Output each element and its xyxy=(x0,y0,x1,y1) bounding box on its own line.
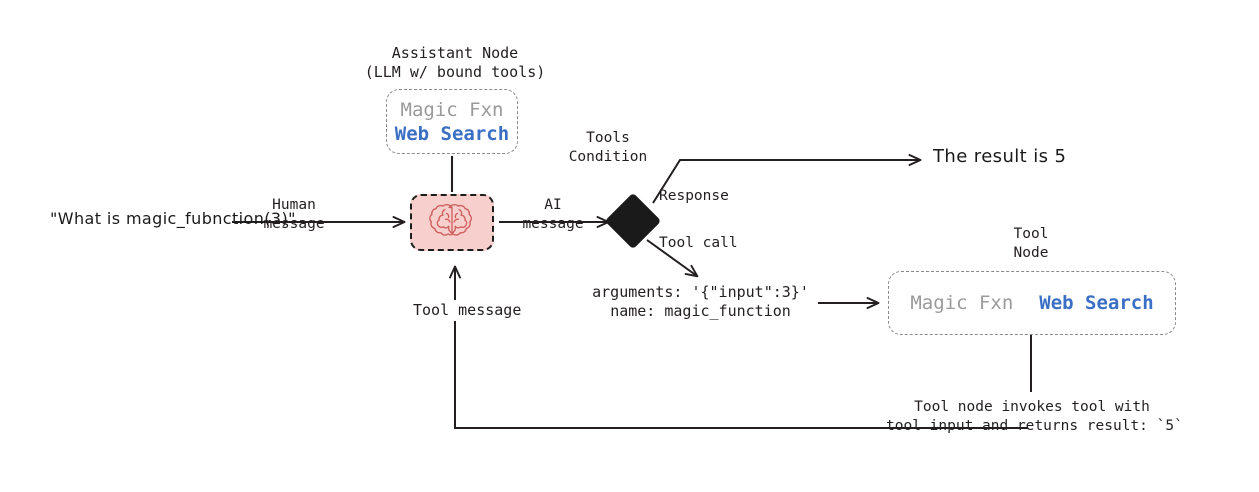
tools-condition-title-line2: Condition xyxy=(548,148,668,167)
tool-node-caption-line2: tool input and returns result: `5` xyxy=(886,417,1178,436)
tool-node-caption: Tool node invokes tool with tool input a… xyxy=(886,398,1178,436)
assistant-tool-web-search-label[interactable]: Web Search xyxy=(395,123,509,145)
tool-node-title: Tool Node xyxy=(971,225,1091,263)
human-message-line2: message xyxy=(246,215,342,234)
assistant-node-title-line1: Assistant Node xyxy=(330,44,580,63)
ai-message-line1: AI xyxy=(505,196,601,215)
ai-message-line2: message xyxy=(505,215,601,234)
tool-node-web-search-label[interactable]: Web Search xyxy=(1039,292,1153,314)
assistant-node-title-line2: (LLM w/ bound tools) xyxy=(330,63,580,82)
edge-label-human-message: Human message xyxy=(246,196,342,234)
edge-label-response: Response xyxy=(659,187,729,206)
assistant-tool-magic-fxn-label[interactable]: Magic Fxn xyxy=(401,99,504,121)
tool-node-caption-line1: Tool node invokes tool with xyxy=(886,398,1178,417)
tool-node-title-line1: Tool xyxy=(971,225,1091,244)
edge-label-tool-message: Tool message xyxy=(411,300,523,321)
tools-condition-title: Tools Condition xyxy=(548,129,668,167)
assistant-llm-node[interactable] xyxy=(410,194,494,251)
edge-label-ai-message: AI message xyxy=(505,196,601,234)
edge-label-tool-call: Tool call xyxy=(659,234,738,253)
assistant-bound-tools-box[interactable]: Magic Fxn Web Search xyxy=(386,89,518,154)
assistant-node-title: Assistant Node (LLM w/ bound tools) xyxy=(330,44,580,82)
final-answer-text: The result is 5 xyxy=(933,146,1193,167)
tool-call-payload: arguments: '{"input":3}' name: magic_fun… xyxy=(578,283,823,321)
brain-icon xyxy=(424,201,480,245)
tools-condition-title-line1: Tools xyxy=(548,129,668,148)
tool-call-arguments: arguments: '{"input":3}' xyxy=(578,283,823,302)
human-message-line1: Human xyxy=(246,196,342,215)
tool-node-magic-fxn-label[interactable]: Magic Fxn xyxy=(910,292,1013,314)
tool-node-title-line2: Node xyxy=(971,244,1091,263)
tool-call-name: name: magic_function xyxy=(578,302,823,321)
tools-condition-diamond xyxy=(605,193,662,250)
diagram-canvas: Assistant Node (LLM w/ bound tools) Magi… xyxy=(0,0,1259,492)
user-query-text: "What is magic_fubnction(3)" xyxy=(50,209,240,228)
tool-node-box[interactable]: Magic Fxn Web Search xyxy=(888,271,1176,335)
